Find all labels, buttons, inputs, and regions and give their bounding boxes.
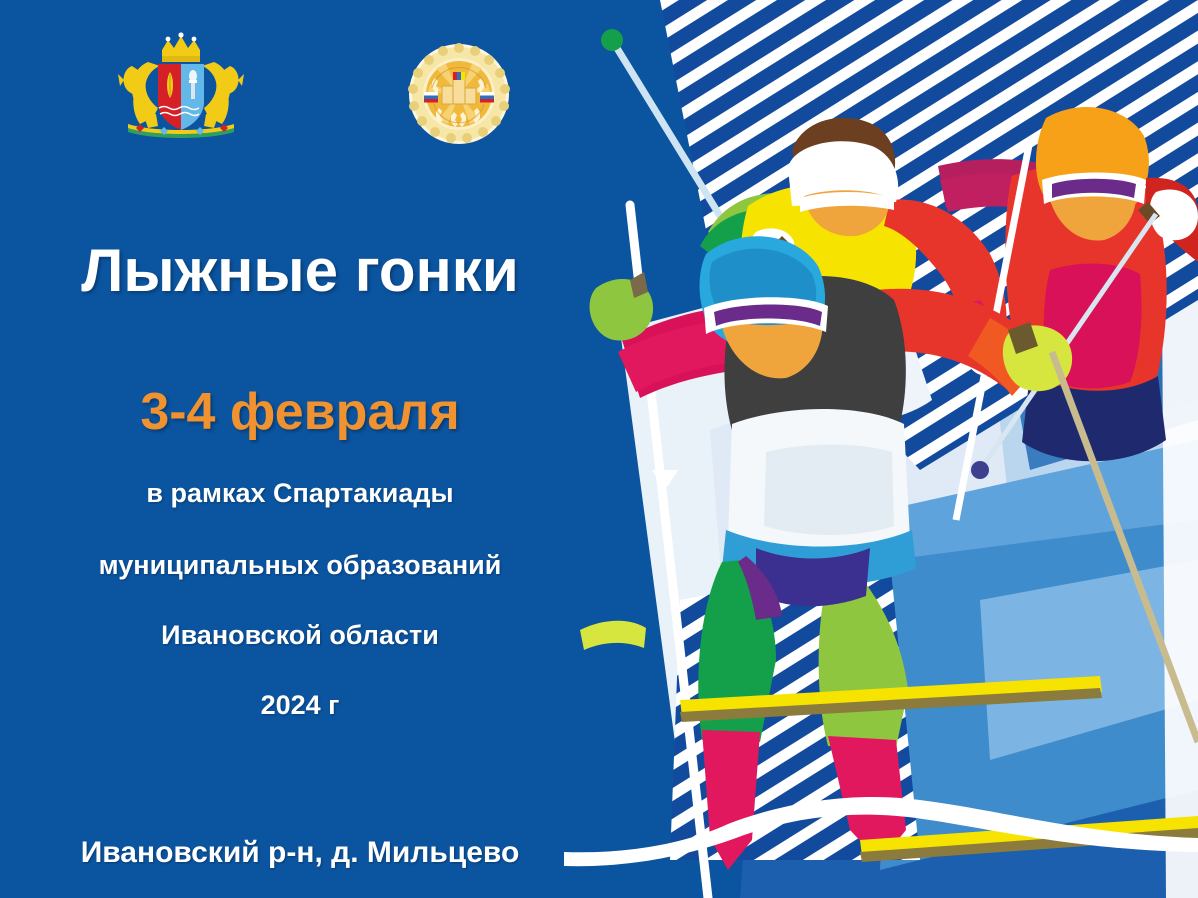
subtitle-line-1: в рамках Спартакиады — [0, 478, 600, 509]
event-date: 3-4 февраля — [0, 382, 600, 442]
subtitle-line-3: Ивановской области — [0, 620, 600, 651]
subtitle-line-2: муниципальных образований — [0, 550, 600, 581]
skiers-illustration — [560, 0, 1198, 898]
event-location: Ивановский р-н, д. Мильцево — [0, 836, 600, 870]
poster-canvas: Лыжные гонки 3-4 февраля в рамках Спарта… — [0, 0, 1198, 898]
page-title: Лыжные гонки — [0, 236, 600, 305]
text-column: Лыжные гонки 3-4 февраля в рамках Спарта… — [0, 0, 600, 898]
subtitle-line-4: 2024 г — [0, 690, 600, 721]
